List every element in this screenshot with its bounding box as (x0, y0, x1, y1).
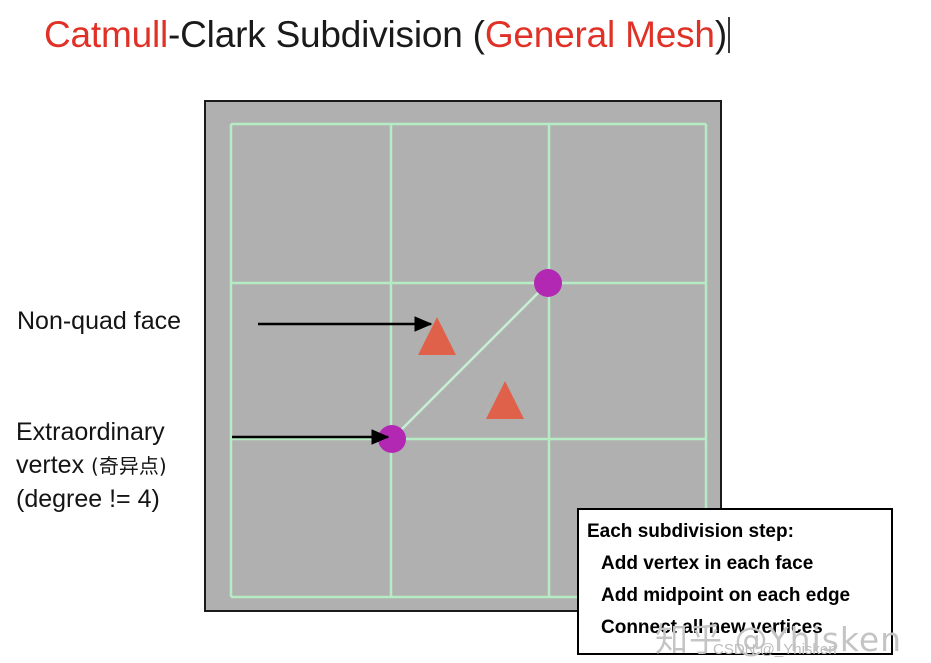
subdivision-steps-heading: Each subdivision step: (587, 516, 891, 548)
label-extraordinary-line2-cjk: (奇异点) (91, 454, 167, 478)
label-non-quad-face-text: Non-quad face (17, 307, 181, 335)
extraordinary-vertex-lower (378, 425, 406, 453)
subdivision-steps-box: Each subdivision step: Add vertex in eac… (577, 508, 893, 655)
page-title-part-closeparen: ) (715, 14, 727, 55)
label-extraordinary-line3: (degree != 4) (16, 483, 167, 516)
page-title-part-clark: -Clark Subdivision ( (168, 14, 485, 55)
label-non-quad-face: Non-quad face (17, 305, 181, 338)
subdivision-step-item: Add midpoint on each edge (587, 580, 891, 612)
label-extraordinary-line2-en: vertex (16, 451, 91, 479)
subdivision-step-item: Connect all new vertices (587, 612, 891, 644)
non-quad-face-marker-lower (486, 381, 524, 419)
page-title: Catmull-Clark Subdivision (General Mesh) (44, 12, 730, 58)
label-extraordinary-line1: Extraordinary (16, 416, 167, 449)
text-cursor-caret (728, 17, 730, 53)
label-extraordinary-line2: vertex (奇异点) (16, 449, 167, 483)
page-title-part-general-mesh: General Mesh (485, 14, 715, 55)
diagonal-edge (392, 283, 548, 439)
label-extraordinary-vertex: Extraordinary vertex (奇异点) (degree != 4) (16, 416, 167, 516)
page-title-part-catmull: Catmull (44, 14, 168, 55)
extraordinary-vertex-upper (534, 269, 562, 297)
non-quad-face-marker-upper (418, 317, 456, 355)
subdivision-step-item: Add vertex in each face (587, 548, 891, 580)
